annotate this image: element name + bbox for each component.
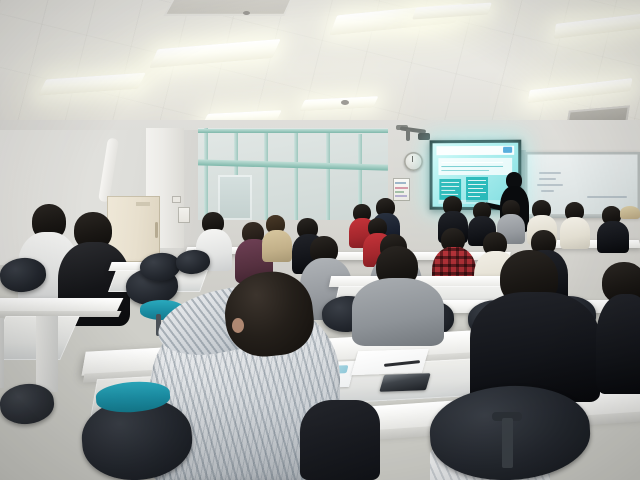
partition-head-rail — [198, 129, 388, 133]
poster-line — [395, 195, 407, 197]
slide-table-row — [441, 162, 503, 163]
whiteboard-writing — [539, 178, 556, 180]
poster-line — [395, 191, 404, 193]
desk-front-left-leg-2 — [0, 318, 4, 388]
slide-block-line — [441, 182, 459, 183]
slide-logo — [503, 147, 512, 153]
cabinet-handle[interactable] — [155, 222, 158, 238]
partition-mullion — [204, 128, 208, 220]
foreground-student-ear — [232, 318, 244, 333]
slide-table-row — [441, 166, 503, 167]
slide-block-line — [468, 188, 483, 189]
slide-block-line — [468, 196, 480, 197]
poster-line — [395, 182, 406, 184]
partition-mullion — [294, 132, 298, 220]
torso — [596, 294, 640, 394]
whiteboard-writing — [541, 190, 554, 192]
wall-outlet — [172, 196, 181, 203]
whiteboard-writing — [539, 172, 561, 174]
ceiling-sprinkler — [341, 100, 349, 105]
slide-block-line — [468, 180, 486, 181]
desk-front-left-leg — [36, 316, 58, 392]
glass-door[interactable] — [218, 175, 252, 220]
projector-head — [418, 133, 430, 140]
torso — [560, 217, 590, 249]
torso — [352, 278, 444, 346]
student-black-right-edge — [596, 262, 640, 392]
ceiling-recessed-panel — [164, 0, 296, 16]
slide-block-line — [441, 186, 459, 187]
poster-line — [395, 187, 408, 189]
slide-block-line — [441, 194, 458, 195]
partition-mullion — [326, 133, 330, 220]
cabinet-label — [136, 202, 150, 206]
slide-block-line — [468, 184, 486, 185]
slide-block-line — [441, 190, 455, 191]
wall-notice — [178, 207, 190, 223]
student-gray-hoodie-midfg — [352, 246, 444, 342]
electronic-device[interactable] — [379, 373, 430, 392]
ceiling-speaker — [243, 11, 250, 15]
projector-mount-drop — [406, 129, 410, 141]
torso — [470, 292, 600, 402]
wall-poster — [393, 178, 410, 201]
wall-clock — [404, 152, 423, 171]
slide-block-line — [468, 192, 486, 193]
student-black-hoodie-foreground — [470, 250, 600, 400]
slide-table-row — [441, 170, 489, 171]
whiteboard-writing — [587, 196, 627, 198]
partition-mullion — [264, 131, 268, 220]
chair-stem — [502, 418, 513, 468]
foreground-student-arm — [300, 400, 380, 480]
student-tan-cap — [620, 206, 640, 219]
torso — [597, 221, 629, 253]
classroom-scene — [0, 0, 640, 480]
whiteboard-writing — [537, 184, 563, 186]
desk-front-left-top[interactable] — [0, 298, 123, 312]
torso — [262, 230, 292, 262]
